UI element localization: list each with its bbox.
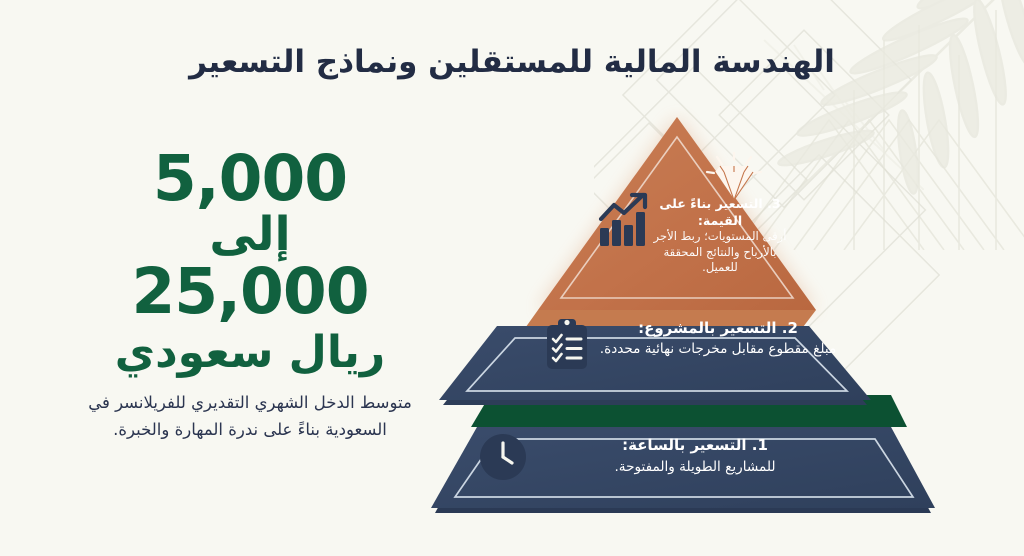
income-currency-label: ريال سعودي: [40, 325, 460, 380]
tier-1-heading: 1. التسعير بالساعة:: [530, 435, 860, 457]
tier-1-body: للمشاريع الطويلة والمفتوحة.: [530, 458, 860, 478]
income-amount-to: 25,000: [40, 261, 460, 323]
tier-2-heading: 2. التسعير بالمشروع:: [588, 318, 848, 339]
growth-bar-chart-icon: [598, 192, 652, 248]
tier-2-body: مبلغ مقطوع مقابل مخرجات نهائية محددة.: [588, 340, 848, 359]
page-title: الهندسة المالية للمستقلين ونماذج التسعير: [0, 40, 1024, 85]
infographic-canvas: الهندسة المالية للمستقلين ونماذج التسعير…: [0, 0, 1024, 556]
income-amount-from: 5,000: [40, 148, 460, 210]
income-stat-block: 5,000 إلى 25,000 ريال سعودي متوسط الدخل …: [40, 148, 460, 443]
income-caption: متوسط الدخل الشهري التقديري للفريلانسر ف…: [40, 390, 460, 443]
clipboard-checklist-icon: [543, 318, 591, 372]
pyramid-tier-1-text: 1. التسعير بالساعة: للمشاريع الطويلة وال…: [530, 435, 860, 477]
pyramid-tier-2-text: 2. التسعير بالمشروع: مبلغ مقطوع مقابل مخ…: [588, 318, 848, 360]
tier-3-heading: 3. التسعير بناءً على القيمة:: [645, 196, 795, 229]
clock-icon: [478, 432, 528, 482]
pyramid-tier-3-text: 3. التسعير بناءً على القيمة: أرقى المستو…: [645, 196, 795, 276]
income-range-connector: إلى: [40, 210, 460, 261]
tier-3-body: أرقى المستويات؛ ربط الأجر بالأرباح والنت…: [645, 229, 795, 275]
